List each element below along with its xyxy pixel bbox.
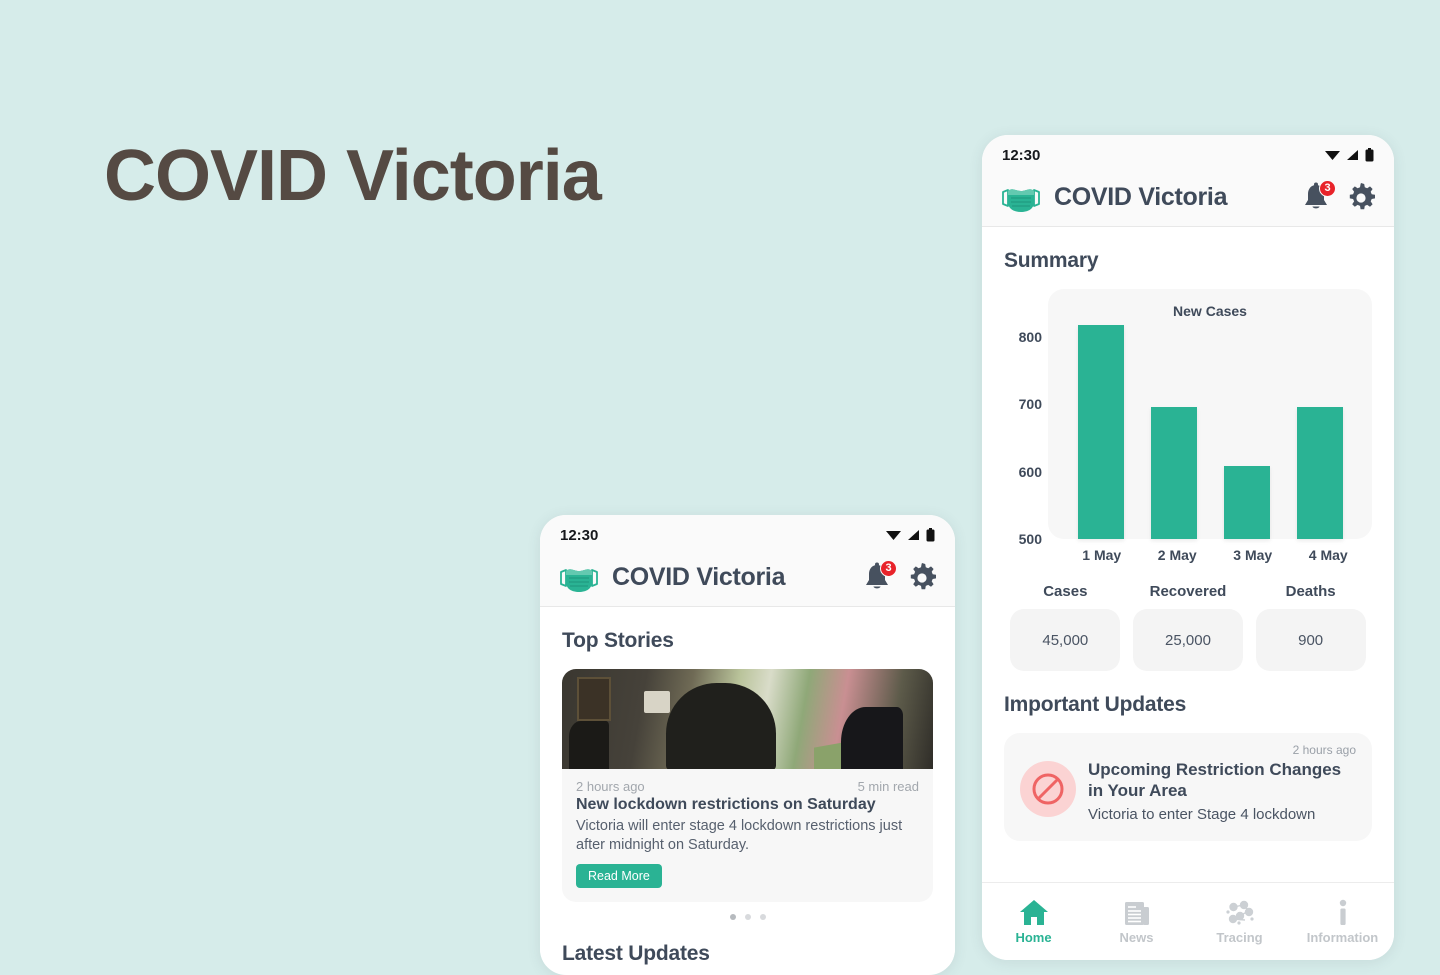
battery-icon bbox=[926, 528, 935, 542]
story-photo bbox=[562, 669, 933, 769]
carousel-dot[interactable] bbox=[730, 914, 736, 920]
chart-title: New Cases bbox=[1058, 303, 1362, 319]
notification-badge: 3 bbox=[1319, 180, 1336, 197]
update-title: Upcoming Restriction Changes in Your Are… bbox=[1088, 759, 1356, 802]
carousel-dot[interactable] bbox=[745, 914, 751, 920]
phone-mockup-home: 12:30 COVID Victoria 3 bbox=[982, 135, 1394, 960]
chart-plot-area bbox=[1058, 325, 1362, 539]
important-update-card[interactable]: 2 hours ago Upcoming Restriction Changes… bbox=[1004, 733, 1372, 841]
stat-value: 25,000 bbox=[1133, 609, 1243, 671]
nav-label: News bbox=[1120, 930, 1154, 945]
new-cases-chart: 500600700800 New Cases bbox=[1004, 289, 1372, 539]
app-bar: COVID Victoria 3 bbox=[540, 549, 955, 607]
carousel-dot[interactable] bbox=[760, 914, 766, 920]
chart-bar bbox=[1151, 407, 1197, 539]
nav-item-news[interactable]: News bbox=[1085, 899, 1188, 945]
story-time: 2 hours ago bbox=[576, 779, 645, 794]
stat-card: Recovered25,000 bbox=[1133, 583, 1243, 671]
page-title: COVID Victoria bbox=[104, 135, 601, 217]
read-more-button[interactable]: Read More bbox=[576, 864, 662, 888]
top-story-card[interactable]: 2 hours ago 5 min read New lockdown rest… bbox=[562, 669, 933, 902]
nav-label: Tracing bbox=[1216, 930, 1262, 945]
status-bar-time: 12:30 bbox=[1002, 147, 1040, 164]
nav-item-tracing[interactable]: Tracing bbox=[1188, 899, 1291, 945]
stat-card: Deaths900 bbox=[1256, 583, 1366, 671]
app-bar: COVID Victoria 3 bbox=[982, 169, 1394, 227]
nav-item-home[interactable]: Home bbox=[982, 899, 1085, 945]
bottom-navigation: Home News bbox=[982, 882, 1394, 960]
photo-wall-frame bbox=[577, 677, 611, 721]
photo-person bbox=[666, 683, 776, 769]
face-mask-icon bbox=[558, 562, 600, 594]
wifi-icon bbox=[886, 529, 901, 541]
nav-label: Home bbox=[1015, 930, 1051, 945]
phone-mockup-news: 12:30 COVID Victoria 3 bbox=[540, 515, 955, 975]
chart-bar bbox=[1224, 466, 1270, 539]
newspaper-icon bbox=[1123, 899, 1151, 927]
home-icon bbox=[1019, 899, 1049, 927]
app-bar-title: COVID Victoria bbox=[612, 563, 851, 592]
contact-tracing-icon bbox=[1225, 899, 1255, 927]
chart-bar bbox=[1078, 325, 1124, 539]
notification-button[interactable]: 3 bbox=[863, 562, 893, 594]
stat-card: Cases45,000 bbox=[1010, 583, 1120, 671]
photo-light-switch bbox=[644, 691, 670, 713]
chart-y-tick: 800 bbox=[1019, 329, 1042, 345]
app-bar-title: COVID Victoria bbox=[1054, 183, 1290, 212]
latest-updates-heading: Latest Updates bbox=[562, 942, 933, 966]
chart-x-tick: 2 May bbox=[1142, 547, 1212, 563]
chart-x-axis: 1 May2 May3 May4 May bbox=[1058, 547, 1372, 563]
stat-value: 45,000 bbox=[1010, 609, 1120, 671]
info-icon bbox=[1335, 899, 1351, 927]
important-updates-heading: Important Updates bbox=[1004, 693, 1372, 717]
chart-y-tick: 500 bbox=[1019, 531, 1042, 547]
signal-icon bbox=[1346, 149, 1359, 161]
update-timestamp: 2 hours ago bbox=[1088, 743, 1356, 757]
photo-chair-left bbox=[569, 721, 609, 769]
home-screen-body: Summary 500600700800 New Cases 1 May2 Ma… bbox=[982, 249, 1394, 841]
battery-icon bbox=[1365, 148, 1374, 162]
chart-bar bbox=[1297, 407, 1343, 539]
face-mask-icon bbox=[1000, 182, 1042, 214]
gear-icon[interactable] bbox=[1346, 183, 1376, 213]
stat-label: Cases bbox=[1010, 583, 1120, 600]
nav-item-information[interactable]: Information bbox=[1291, 899, 1394, 945]
story-read-time: 5 min read bbox=[858, 779, 919, 794]
chart-y-axis: 500600700800 bbox=[1004, 289, 1048, 539]
news-screen-body: Top Stories 2 hours ago 5 min read New l… bbox=[540, 629, 955, 966]
chart-y-tick: 600 bbox=[1019, 464, 1042, 480]
story-description: Victoria will enter stage 4 lockdown res… bbox=[562, 814, 933, 855]
signal-icon bbox=[907, 529, 920, 541]
nav-label: Information bbox=[1307, 930, 1379, 945]
top-stories-heading: Top Stories bbox=[562, 629, 933, 653]
stats-row: Cases45,000Recovered25,000Deaths900 bbox=[1004, 583, 1372, 671]
chart-x-tick: 4 May bbox=[1293, 547, 1363, 563]
stat-label: Deaths bbox=[1256, 583, 1366, 600]
status-bar: 12:30 bbox=[982, 135, 1394, 169]
chart-x-tick: 1 May bbox=[1067, 547, 1137, 563]
prohibited-icon bbox=[1020, 761, 1076, 817]
story-title: New lockdown restrictions on Saturday bbox=[562, 794, 933, 814]
status-bar: 12:30 bbox=[540, 515, 955, 549]
wifi-icon bbox=[1325, 149, 1340, 161]
carousel-dots[interactable] bbox=[562, 914, 933, 920]
notification-button[interactable]: 3 bbox=[1302, 182, 1332, 214]
chart-x-tick: 3 May bbox=[1218, 547, 1288, 563]
notification-badge: 3 bbox=[880, 560, 897, 577]
gear-icon[interactable] bbox=[907, 563, 937, 593]
stat-value: 900 bbox=[1256, 609, 1366, 671]
stat-label: Recovered bbox=[1133, 583, 1243, 600]
photo-chair-right bbox=[841, 707, 903, 769]
chart-y-tick: 700 bbox=[1019, 396, 1042, 412]
status-bar-time: 12:30 bbox=[560, 527, 598, 544]
summary-heading: Summary bbox=[1004, 249, 1372, 273]
update-description: Victoria to enter Stage 4 lockdown bbox=[1088, 806, 1356, 823]
